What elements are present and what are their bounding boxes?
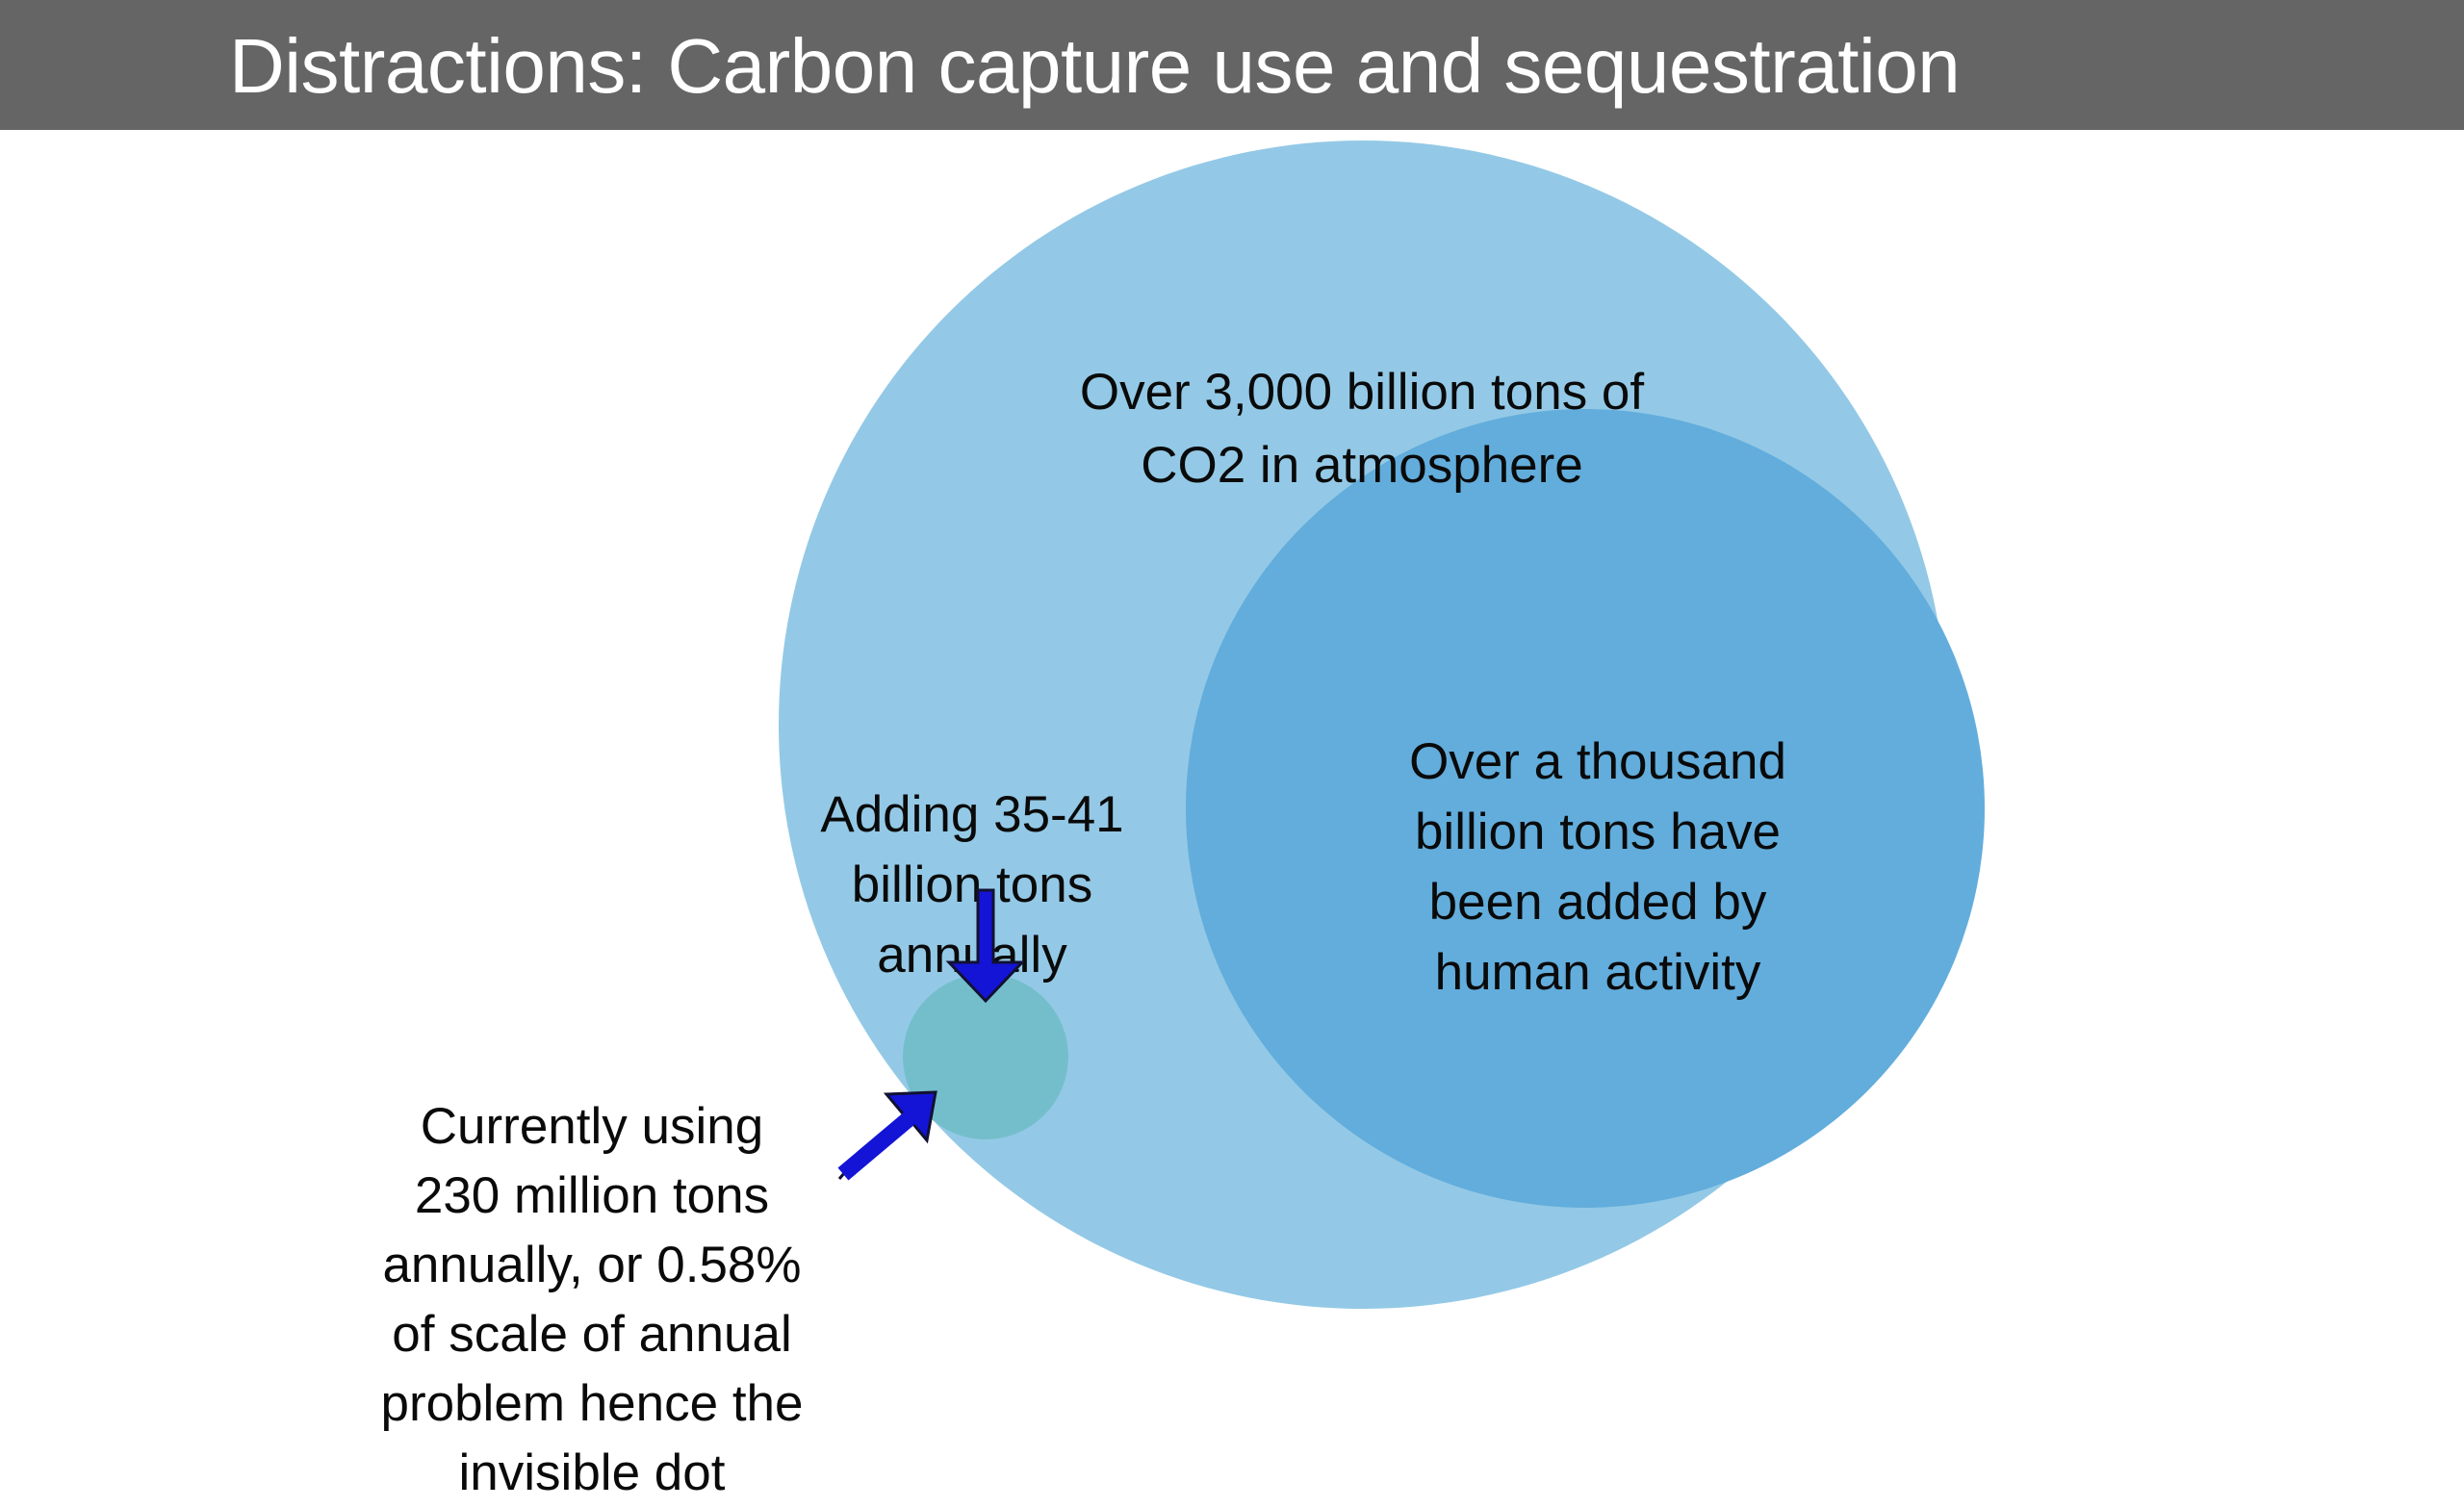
circle-ccus-usage: [903, 974, 1068, 1139]
title-bar: Distractions: Carbon capture use and seq…: [0, 0, 2464, 130]
circle-diagram: Over 3,000 billion tons of CO2 in atmosp…: [0, 130, 2464, 1382]
label-atmosphere-total: Over 3,000 billion tons of CO2 in atmosp…: [977, 356, 1747, 502]
page-title: Distractions: Carbon capture use and seq…: [229, 6, 2250, 126]
label-current-usage: Currently using 230 million tons annuall…: [337, 1092, 847, 1508]
label-annual-additions: Adding 35-41 billion tons annually: [765, 780, 1179, 990]
label-human-added: Over a thousand billion tons have been a…: [1328, 727, 1867, 1008]
slide-root: Distractions: Carbon capture use and seq…: [0, 0, 2464, 1382]
